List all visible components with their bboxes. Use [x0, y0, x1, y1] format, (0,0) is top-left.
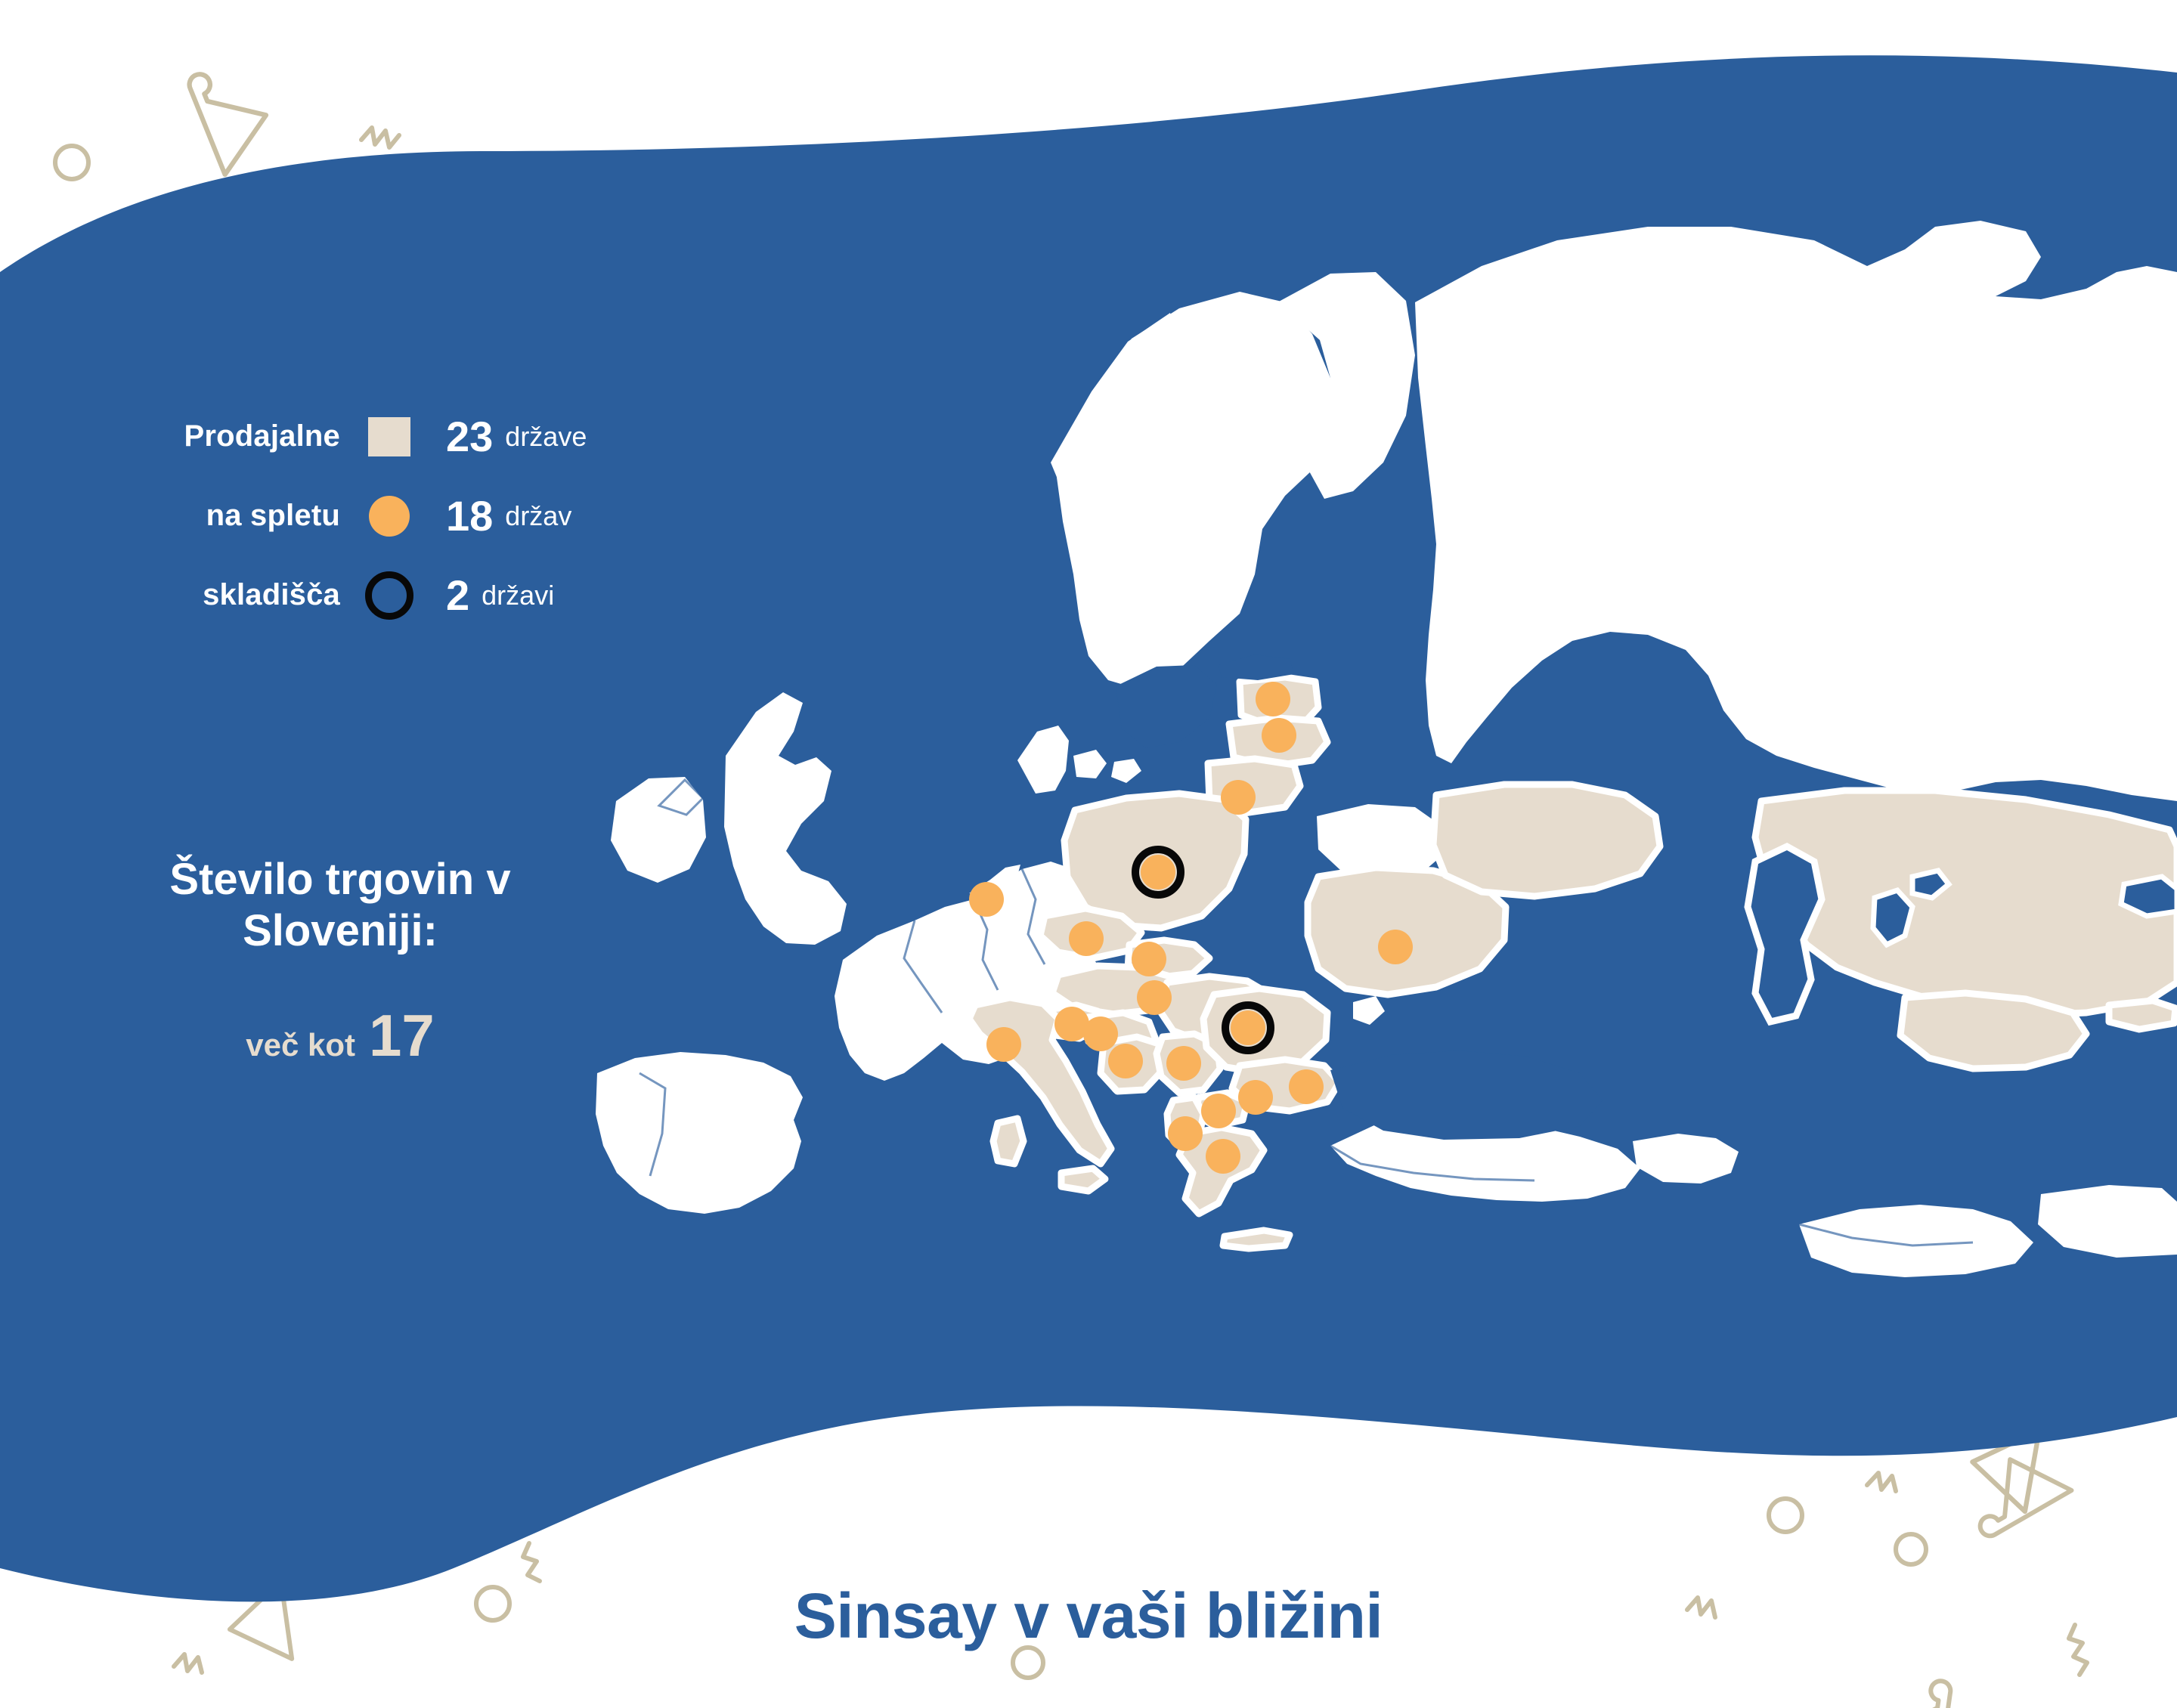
- infographic-canvas: Prodajalne 23 države na spletu 18 držav …: [0, 0, 2177, 1708]
- slovenia-title-line2: Sloveniji:: [76, 905, 605, 957]
- online-store-dot: [1083, 1016, 1118, 1051]
- online-store-dot: [1231, 1010, 1265, 1045]
- footer-title: Sinsay v vaši bližini: [0, 1580, 2177, 1653]
- online-store-dot: [1141, 855, 1175, 890]
- online-store-dot: [1289, 1069, 1324, 1104]
- online-store-dot: [1168, 1116, 1203, 1151]
- slovenia-count-prefix: več kot: [246, 1027, 355, 1063]
- online-store-dot: [1238, 1080, 1273, 1115]
- online-store-dot: [1132, 942, 1166, 976]
- footer: Sinsay v vaši bližini: [0, 1580, 2177, 1653]
- online-store-dot: [969, 882, 1004, 917]
- slovenia-count-row: več kot 17: [76, 1001, 605, 1070]
- slovenia-count-value: 17: [369, 1001, 435, 1070]
- slovenia-title: Število trgovin v Sloveniji:: [76, 854, 605, 958]
- online-store-dot: [986, 1027, 1021, 1062]
- online-store-dot: [1166, 1046, 1201, 1081]
- online-store-dot: [1108, 1044, 1143, 1078]
- slovenia-callout: Število trgovin v Sloveniji: več kot 17: [76, 854, 605, 1070]
- online-store-dot: [1378, 930, 1413, 964]
- slovenia-title-line1: Število trgovin v: [76, 854, 605, 905]
- online-store-dot: [1256, 682, 1290, 716]
- online-store-dot: [1069, 921, 1104, 956]
- online-store-dot: [1206, 1139, 1240, 1174]
- online-store-dot: [1137, 980, 1172, 1015]
- online-store-dot: [1201, 1094, 1236, 1128]
- online-store-dot: [1221, 780, 1256, 815]
- online-store-dot: [1262, 718, 1296, 753]
